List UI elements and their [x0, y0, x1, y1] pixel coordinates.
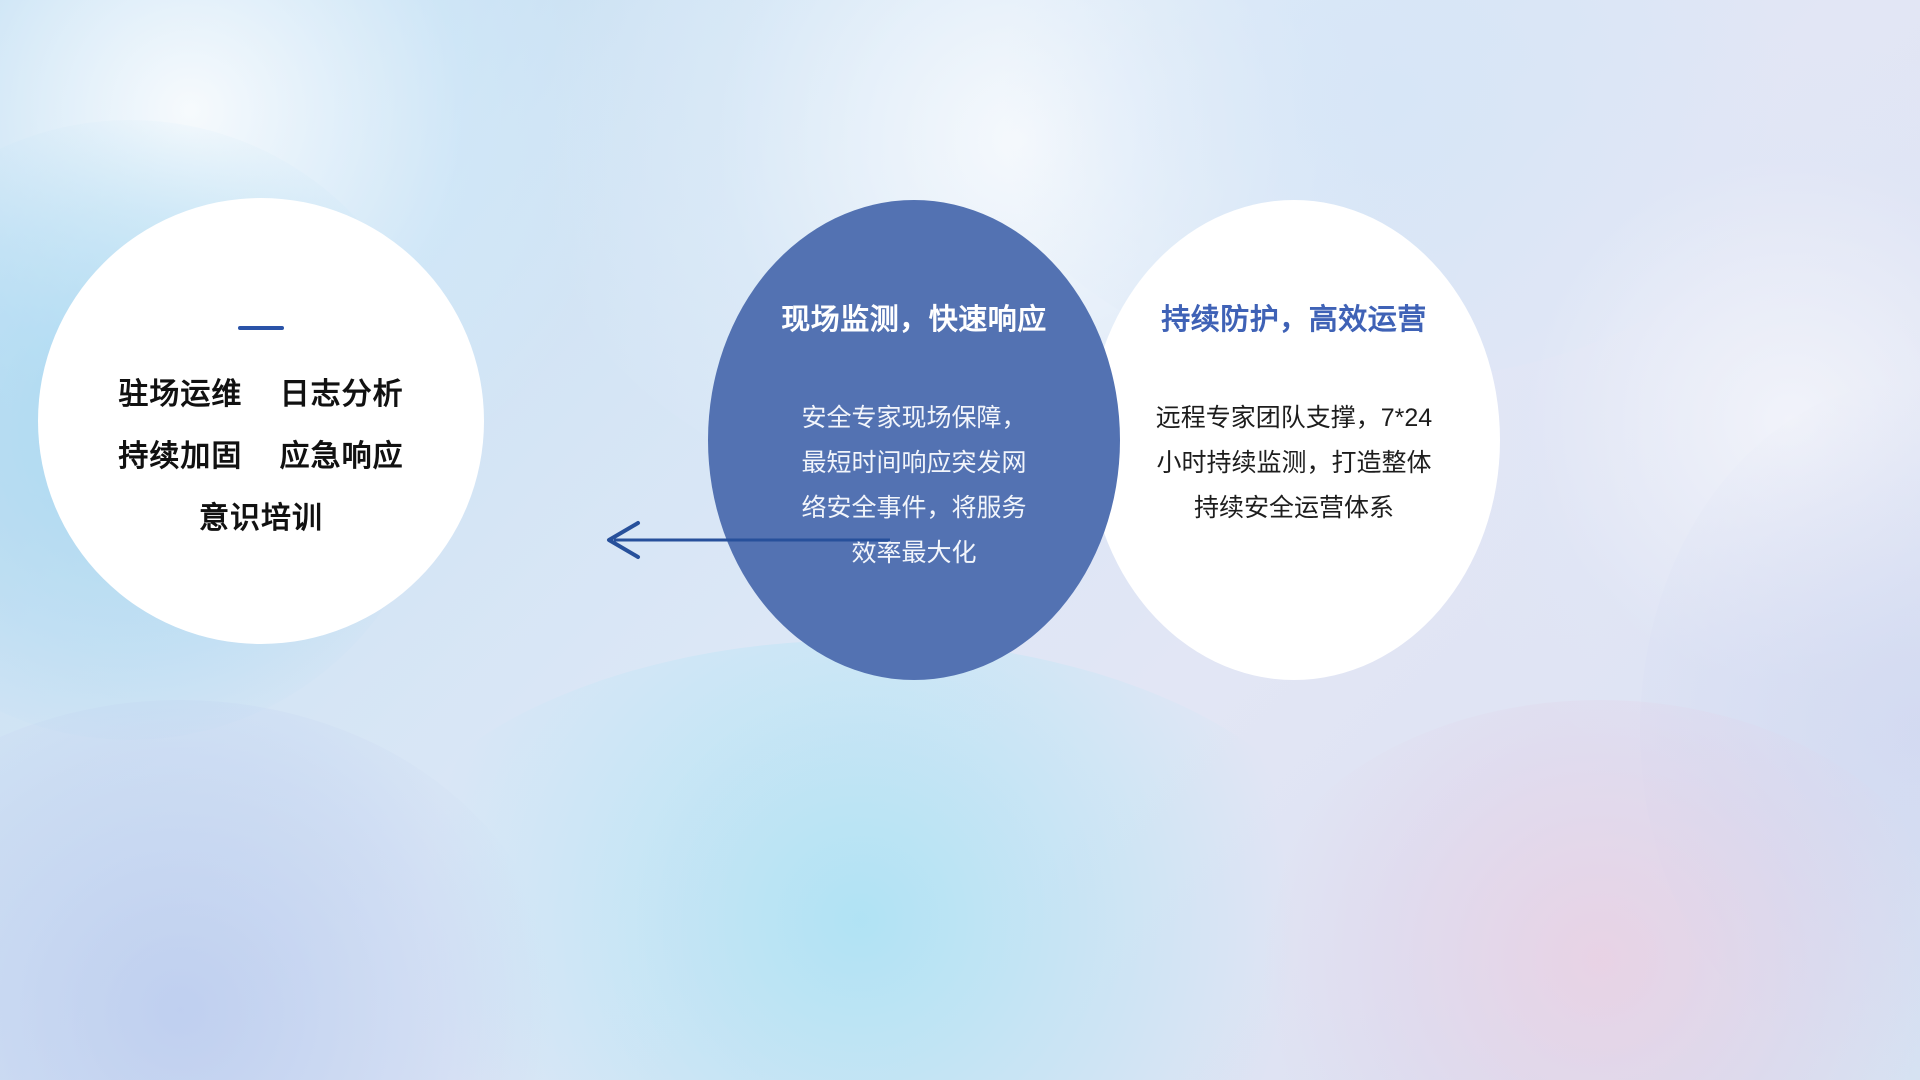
on-site-monitoring-title: 现场监测，快速响应	[781, 296, 1047, 338]
on-site-monitoring-circle[interactable]: 现场监测，快速响应 安全专家现场保障， 最短时间响应突发网 络安全事件，将服务 …	[708, 200, 1120, 680]
background-glow-bottom-left	[0, 700, 560, 1080]
divider-line	[238, 326, 284, 330]
capability-keyword-row-1: 驻场运维 日志分析	[38, 364, 484, 426]
capability-keyword-row-2: 持续加固 应急响应	[38, 426, 484, 488]
continuous-protection-body: 远程专家团队支撑，7*24 小时持续监测，打造整体 持续安全运营体系	[1119, 396, 1469, 531]
slide-canvas: 驻场运维 日志分析 持续加固 应急响应 意识培训 持续防护，高效运营 远程专家团…	[0, 0, 1920, 1080]
background-glow-pink	[1240, 700, 1920, 1080]
continuous-protection-circle[interactable]: 持续防护，高效运营 远程专家团队支撑，7*24 小时持续监测，打造整体 持续安全…	[1088, 200, 1500, 680]
left-capability-circle[interactable]: 驻场运维 日志分析 持续加固 应急响应 意识培训	[38, 198, 484, 644]
continuous-protection-body-line-1: 远程专家团队支撑，7*24	[1119, 396, 1469, 441]
background-glow-bottom-cyan	[360, 640, 1360, 1080]
background-glow-right	[1430, 40, 1920, 800]
capability-keyword-list: 驻场运维 日志分析 持续加固 应急响应 意识培训	[38, 364, 484, 550]
background-glow-far-right	[1640, 380, 1920, 1080]
continuous-protection-body-line-3: 持续安全运营体系	[1119, 486, 1469, 531]
on-site-monitoring-body-line-1: 安全专家现场保障，	[759, 396, 1069, 441]
capability-keyword-row-3: 意识培训	[38, 488, 484, 550]
on-site-monitoring-body-line-2: 最短时间响应突发网	[759, 441, 1069, 486]
continuous-protection-body-line-2: 小时持续监测，打造整体	[1119, 441, 1469, 486]
flow-arrow-icon	[590, 515, 890, 565]
continuous-protection-title: 持续防护，高效运营	[1161, 296, 1427, 338]
